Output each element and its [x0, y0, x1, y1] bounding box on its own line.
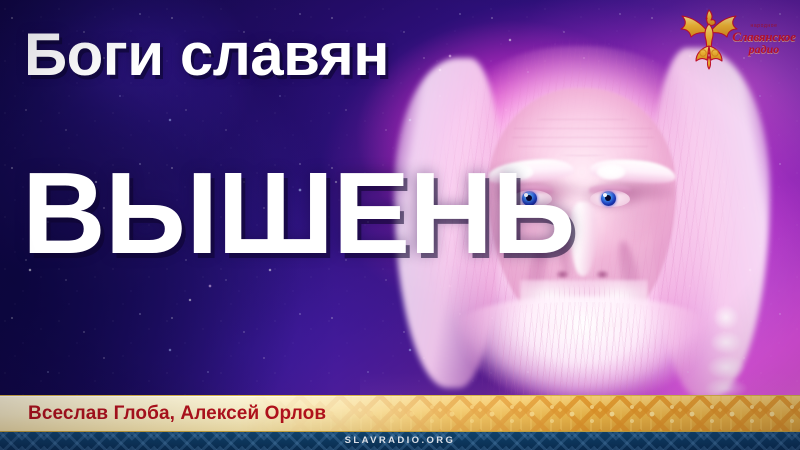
slavradio-logo[interactable]: народное Славянское радио [676, 4, 796, 72]
speaker-names: Всеслав Глоба, Алексей Орлов [28, 396, 326, 432]
firebird-icon [678, 6, 740, 70]
series-kicker-text: Боги славян [24, 25, 389, 85]
page-title: ВЫШЕНЬ [22, 155, 574, 271]
site-url-bar: SLAVRADIO.ORG [0, 431, 800, 450]
eye-glint-right [603, 193, 607, 197]
poster-canvas: Боги славян ВЫШЕНЬ [0, 0, 800, 450]
nostril-right [596, 270, 609, 279]
logo-wordmark: народное Славянское радио [732, 24, 796, 55]
site-url-text[interactable]: SLAVRADIO.ORG [0, 432, 800, 450]
speaker-name-bar: Всеслав Глоба, Алексей Орлов [0, 395, 800, 432]
eyelid-right [589, 185, 631, 193]
logo-line2: радио [732, 43, 796, 55]
eyebrow-tuft-right [596, 164, 626, 180]
